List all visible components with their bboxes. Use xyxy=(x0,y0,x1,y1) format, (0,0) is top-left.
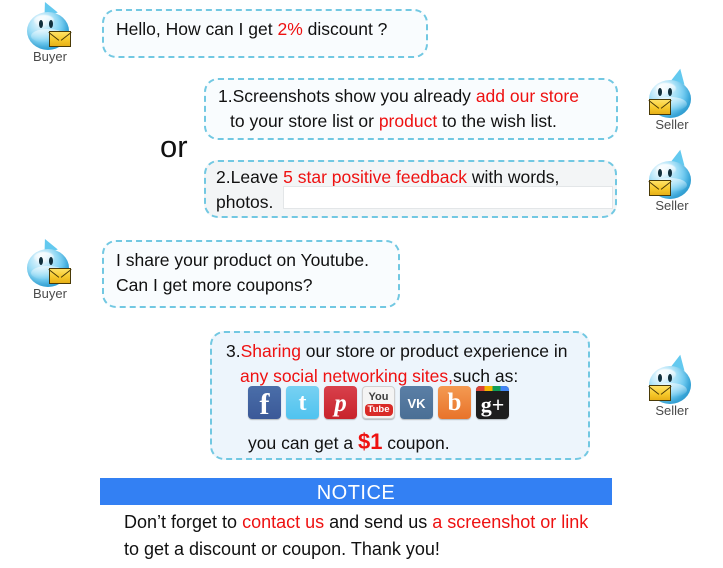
envelope-icon xyxy=(649,180,671,196)
bubble2-highlight-product: product xyxy=(379,111,437,131)
googleplus-icon[interactable]: g+ xyxy=(476,386,509,419)
notice-line-1: Don’t forget to contact us and send us a… xyxy=(124,509,624,536)
avatar-seller-1: Seller xyxy=(640,74,704,132)
avatar-art xyxy=(647,155,697,201)
bubble3-number: 2. xyxy=(216,167,231,187)
rss-icon[interactable]: b xyxy=(438,386,471,419)
envelope-icon xyxy=(649,99,671,115)
envelope-icon xyxy=(49,268,71,284)
eye-left-icon xyxy=(39,20,43,28)
bubble5-line-coupon: you can get a $1 coupon. xyxy=(226,429,574,456)
facebook-glyph: f xyxy=(260,390,270,419)
bubble2-text-3: to the wish list. xyxy=(437,111,557,131)
bubble4-line-2: Can I get more coupons? xyxy=(116,273,386,298)
eye-left-icon xyxy=(658,88,662,96)
notice-screenshot-link: a screenshot or link xyxy=(432,512,588,532)
twitter-glyph: t xyxy=(299,391,307,415)
social-icons-row: f t p You Tube vk b g+ xyxy=(248,386,509,419)
bubble5-text-2: such as: xyxy=(453,366,518,386)
avatar-seller-2: Seller xyxy=(640,155,704,213)
eye-right-icon xyxy=(49,20,53,28)
bubble5-line-1: 3.Sharing our store or product experienc… xyxy=(226,339,574,364)
bubble5-text-4: coupon. xyxy=(382,433,449,453)
notice-title-bar: NOTICE xyxy=(100,478,612,505)
bubble3-white-fill-box xyxy=(283,186,613,209)
vk-icon[interactable]: vk xyxy=(400,386,433,419)
twitter-icon[interactable]: t xyxy=(286,386,319,419)
avatar-label: Seller xyxy=(640,118,704,132)
bubble3-text-3: photos. xyxy=(216,192,273,212)
rss-glyph: b xyxy=(448,390,462,415)
notice-text-a: Don’t forget to xyxy=(124,512,242,532)
eye-left-icon xyxy=(658,169,662,177)
bubble3-text-2: with words, xyxy=(467,167,559,187)
bubble2-text-1: Screenshots show you already xyxy=(233,86,476,106)
bubble1-text-b: discount ? xyxy=(303,19,388,39)
eye-right-icon xyxy=(668,88,672,96)
avatar-art xyxy=(647,74,697,120)
bubble5-number: 3. xyxy=(226,341,241,361)
notice-line-2: to get a discount or coupon. Thank you! xyxy=(124,536,624,563)
eye-left-icon xyxy=(658,374,662,382)
bubble2-number: 1. xyxy=(218,86,233,106)
eye-right-icon xyxy=(668,169,672,177)
bubble5-coupon-amount: $1 xyxy=(358,429,382,454)
pinterest-glyph: p xyxy=(334,391,347,416)
eye-left-icon xyxy=(39,257,43,265)
bubble5-text-3: you can get a xyxy=(248,433,358,453)
envelope-icon xyxy=(49,31,71,47)
bubble5-text-1: our store or product experience in xyxy=(301,341,568,361)
youtube-glyph-top: You xyxy=(369,392,389,403)
chat-bubble-buyer-1: Hello, How can I get 2% discount ? xyxy=(102,9,428,58)
pinterest-icon[interactable]: p xyxy=(324,386,357,419)
bubble2-highlight-store: add our store xyxy=(476,86,579,106)
bubble2-text-2: to your store list or xyxy=(230,111,379,131)
bubble1-text-a: Hello, How can I get xyxy=(116,19,277,39)
facebook-icon[interactable]: f xyxy=(248,386,281,419)
eye-right-icon xyxy=(668,374,672,382)
envelope-icon xyxy=(649,385,671,401)
notice-contact-us-link[interactable]: contact us xyxy=(242,512,324,532)
or-separator-label: or xyxy=(160,130,188,164)
avatar-buyer-2: Buyer xyxy=(18,243,82,301)
avatar-label: Seller xyxy=(640,404,704,418)
youtube-icon[interactable]: You Tube xyxy=(362,386,395,419)
googleplus-glyph: g+ xyxy=(481,394,505,416)
youtube-glyph-bottom: Tube xyxy=(365,404,393,416)
notice-text-b: and send us xyxy=(324,512,432,532)
googleplus-color-bar xyxy=(476,386,509,391)
bubble4-line-1: I share your product on Youtube. xyxy=(116,248,386,273)
avatar-label: Seller xyxy=(640,199,704,213)
avatar-art xyxy=(647,360,697,406)
avatar-label: Buyer xyxy=(18,287,82,301)
chat-bubble-buyer-2: I share your product on Youtube. Can I g… xyxy=(102,240,400,308)
eye-right-icon xyxy=(49,257,53,265)
avatar-art xyxy=(25,243,75,289)
bubble3-highlight-feedback: 5 star positive feedback xyxy=(283,167,467,187)
notice-body: Don’t forget to contact us and send us a… xyxy=(124,509,624,563)
bubble3-text-1: Leave xyxy=(231,167,284,187)
avatar-buyer-1: Buyer xyxy=(18,6,82,64)
bubble5-highlight-sharing: Sharing xyxy=(241,341,301,361)
avatar-art xyxy=(25,6,75,52)
avatar-seller-3: Seller xyxy=(640,360,704,418)
bubble5-highlight-social: any social networking sites, xyxy=(240,366,453,386)
vk-glyph: vk xyxy=(407,393,425,412)
avatar-label: Buyer xyxy=(18,50,82,64)
chat-bubble-seller-1: 1.Screenshots show you already add our s… xyxy=(204,78,618,140)
bubble1-discount-percent: 2% xyxy=(277,19,302,39)
notice-title: NOTICE xyxy=(317,482,396,504)
